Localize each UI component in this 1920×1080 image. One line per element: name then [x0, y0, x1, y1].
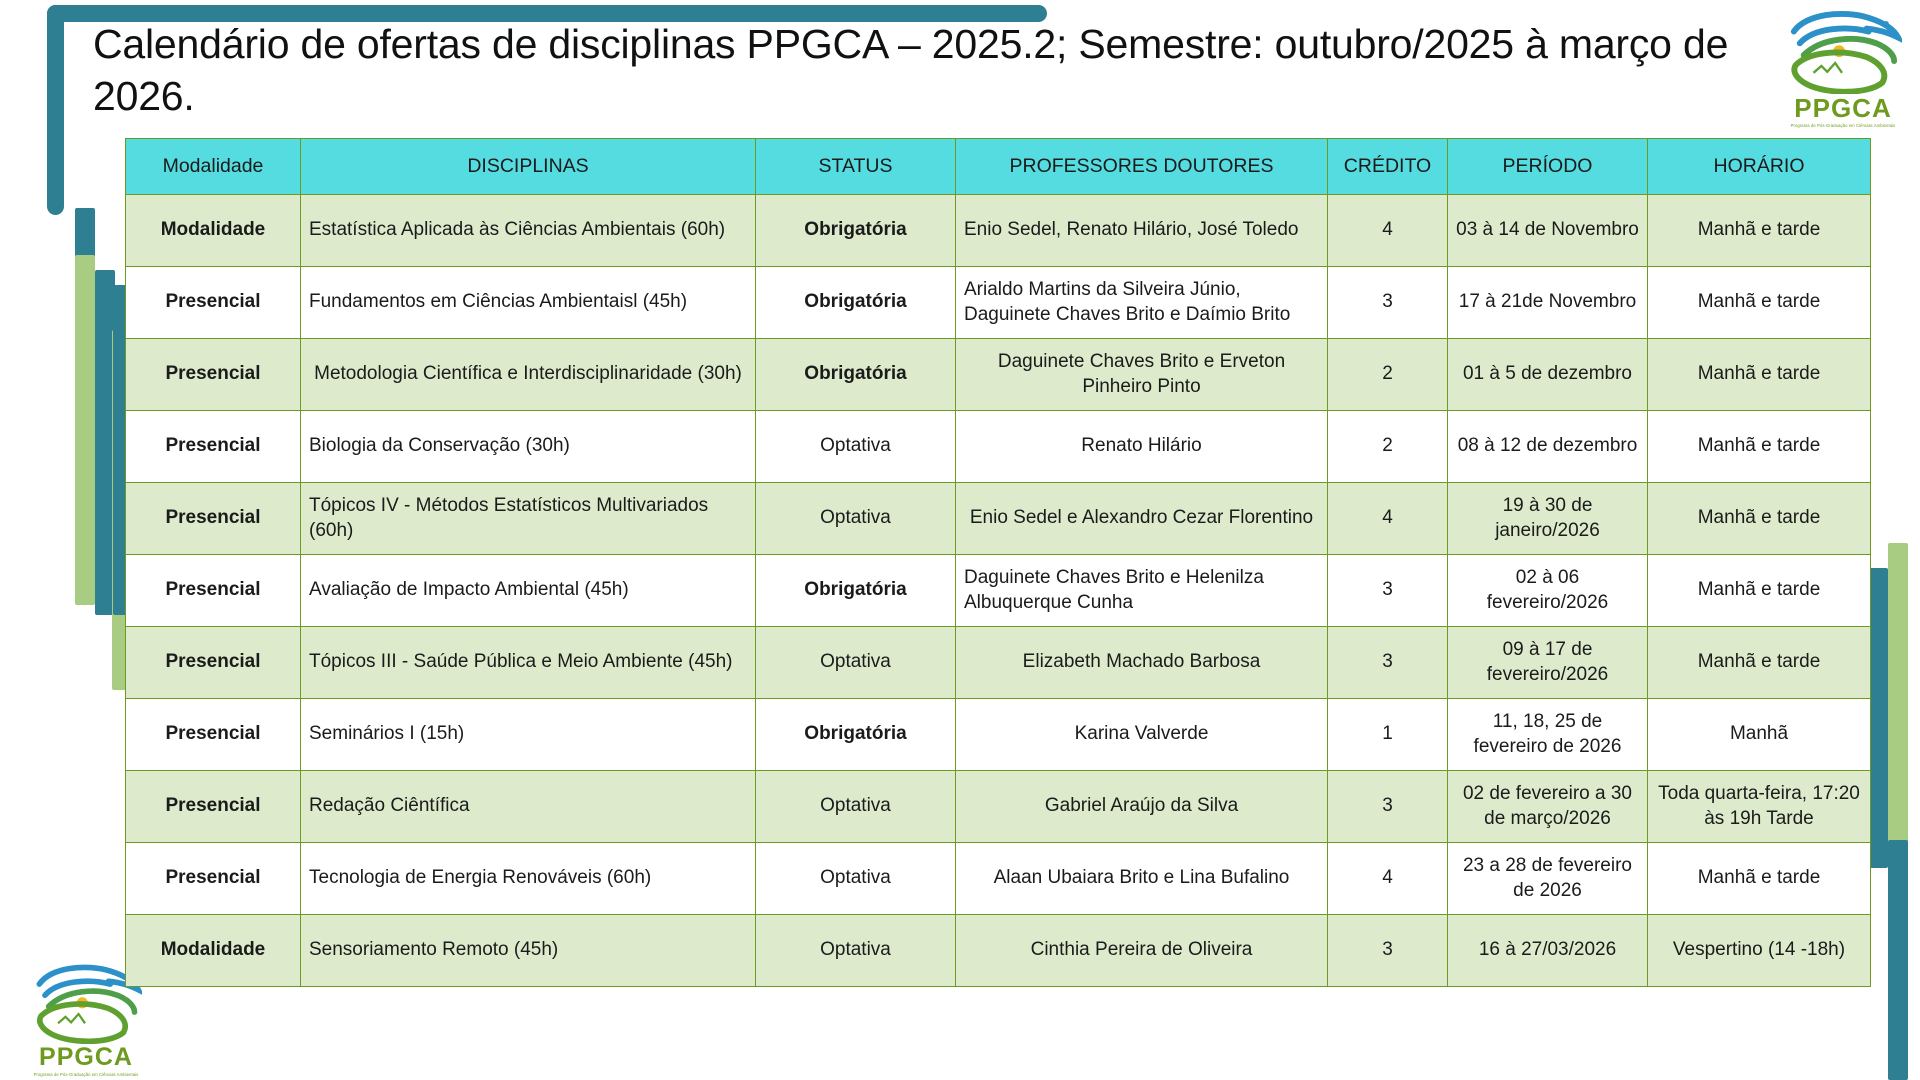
table-row: PresencialTecnologia de Energia Renováve… [126, 843, 1871, 915]
cell-professores: Renato Hilário [956, 411, 1328, 483]
cell-disciplina: Redação Ciêntífica [301, 771, 756, 843]
cell-professores: Daguinete Chaves Brito e Erveton Pinheir… [956, 339, 1328, 411]
decorative-bar-teal-right-1 [1868, 568, 1888, 868]
column-header-horario: HORÁRIO [1648, 139, 1871, 195]
cell-professores: Elizabeth Machado Barbosa [956, 627, 1328, 699]
cell-professores: Daguinete Chaves Brito e Helenilza Albuq… [956, 555, 1328, 627]
cell-disciplina: Tópicos IV - Métodos Estatísticos Multiv… [301, 483, 756, 555]
column-header-disciplinas: DISCIPLINAS [301, 139, 756, 195]
cell-status: Optativa [756, 915, 956, 987]
cell-credito: 3 [1328, 267, 1448, 339]
cell-status: Obrigatória [756, 339, 956, 411]
ppgca-wordmark: PPGCA [30, 1045, 142, 1070]
cell-modalidade: Presencial [126, 699, 301, 771]
cell-horario: Manhã e tarde [1648, 411, 1871, 483]
cell-modalidade: Presencial [126, 555, 301, 627]
table-row: PresencialRedação CiêntíficaOptativaGabr… [126, 771, 1871, 843]
cell-modalidade: Presencial [126, 483, 301, 555]
column-header-professores: PROFESSORES DOUTORES [956, 139, 1328, 195]
cell-disciplina: Estatística Aplicada às Ciências Ambient… [301, 195, 756, 267]
cell-modalidade: Presencial [126, 267, 301, 339]
cell-periodo: 02 à 06 fevereiro/2026 [1448, 555, 1648, 627]
cell-credito: 1 [1328, 699, 1448, 771]
table-row: ModalidadeSensoriamento Remoto (45h)Opta… [126, 915, 1871, 987]
table-row: ModalidadeEstatística Aplicada às Ciênci… [126, 195, 1871, 267]
cell-horario: Manhã e tarde [1648, 483, 1871, 555]
ppgca-logo-top: PPGCA Programa de Pós-Graduação em Ciênc… [1784, 4, 1902, 126]
cell-disciplina: Biologia da Conservação (30h) [301, 411, 756, 483]
table-row: PresencialBiologia da Conservação (30h)O… [126, 411, 1871, 483]
cell-periodo: 16 à 27/03/2026 [1448, 915, 1648, 987]
cell-professores: Enio Sedel, Renato Hilário, José Toledo [956, 195, 1328, 267]
cell-disciplina: Sensoriamento Remoto (45h) [301, 915, 756, 987]
cell-disciplina: Tópicos III - Saúde Pública e Meio Ambie… [301, 627, 756, 699]
cell-credito: 4 [1328, 195, 1448, 267]
cell-periodo: 01 à 5 de dezembro [1448, 339, 1648, 411]
cell-professores: Karina Valverde [956, 699, 1328, 771]
cell-professores: Arialdo Martins da Silveira Júnio, Dagui… [956, 267, 1328, 339]
cell-periodo: 02 de fevereiro a 30 de março/2026 [1448, 771, 1648, 843]
table-row: PresencialSeminários I (15h)ObrigatóriaK… [126, 699, 1871, 771]
cell-credito: 3 [1328, 915, 1448, 987]
column-header-modalidade: Modalidade [126, 139, 301, 195]
cell-status: Obrigatória [756, 699, 956, 771]
cell-modalidade: Presencial [126, 411, 301, 483]
cell-modalidade: Presencial [126, 627, 301, 699]
cell-periodo: 17 à 21de Novembro [1448, 267, 1648, 339]
cell-horario: Manhã e tarde [1648, 843, 1871, 915]
cell-periodo: 11, 18, 25 de fevereiro de 2026 [1448, 699, 1648, 771]
cell-modalidade: Presencial [126, 843, 301, 915]
cell-professores: Alaan Ubaiara Brito e Lina Bufalino [956, 843, 1328, 915]
cell-horario: Toda quarta-feira, 17:20 às 19h Tarde [1648, 771, 1871, 843]
cell-status: Optativa [756, 843, 956, 915]
cell-status: Obrigatória [756, 555, 956, 627]
cell-status: Optativa [756, 411, 956, 483]
ppgca-wordmark: PPGCA [1784, 95, 1902, 121]
course-schedule-table-wrapper: Modalidade DISCIPLINAS STATUS PROFESSORE… [125, 138, 1870, 987]
cell-horario: Manhã e tarde [1648, 555, 1871, 627]
table-head: Modalidade DISCIPLINAS STATUS PROFESSORE… [126, 139, 1871, 195]
cell-periodo: 19 à 30 de janeiro/2026 [1448, 483, 1648, 555]
column-header-status: STATUS [756, 139, 956, 195]
cell-professores: Cinthia Pereira de Oliveira [956, 915, 1328, 987]
cell-disciplina: Tecnologia de Energia Renováveis (60h) [301, 843, 756, 915]
table-header-row: Modalidade DISCIPLINAS STATUS PROFESSORE… [126, 139, 1871, 195]
cell-periodo: 08 à 12 de dezembro [1448, 411, 1648, 483]
decorative-bar-green-1 [75, 255, 95, 605]
table-body: ModalidadeEstatística Aplicada às Ciênci… [126, 195, 1871, 987]
cell-professores: Enio Sedel e Alexandro Cezar Florentino [956, 483, 1328, 555]
cell-periodo: 09 à 17 de fevereiro/2026 [1448, 627, 1648, 699]
cell-horario: Manhã e tarde [1648, 627, 1871, 699]
cell-status: Obrigatória [756, 267, 956, 339]
slide-canvas: Calendário de ofertas de disciplinas PPG… [0, 0, 1920, 1080]
cell-periodo: 23 a 28 de fevereiro de 2026 [1448, 843, 1648, 915]
cell-horario: Manhã e tarde [1648, 339, 1871, 411]
table-row: PresencialFundamentos em Ciências Ambien… [126, 267, 1871, 339]
column-header-credito: CRÉDITO [1328, 139, 1448, 195]
cell-credito: 4 [1328, 843, 1448, 915]
cell-credito: 3 [1328, 555, 1448, 627]
table-row: PresencialMetodologia Científica e Inter… [126, 339, 1871, 411]
cell-disciplina: Seminários I (15h) [301, 699, 756, 771]
cell-horario: Manhã e tarde [1648, 267, 1871, 339]
cell-status: Optativa [756, 627, 956, 699]
ppgca-subtitle: Programa de Pós-Graduação em Ciências Am… [1787, 124, 1899, 129]
cell-periodo: 03 à 14 de Novembro [1448, 195, 1648, 267]
cell-credito: 2 [1328, 411, 1448, 483]
cell-modalidade: Modalidade [126, 915, 301, 987]
cell-credito: 4 [1328, 483, 1448, 555]
table-row: PresencialTópicos IV - Métodos Estatísti… [126, 483, 1871, 555]
cell-disciplina: Avaliação de Impacto Ambiental (45h) [301, 555, 756, 627]
cell-disciplina: Fundamentos em Ciências Ambientaisl (45h… [301, 267, 756, 339]
cell-credito: 2 [1328, 339, 1448, 411]
cell-status: Obrigatória [756, 195, 956, 267]
table-row: PresencialAvaliação de Impacto Ambiental… [126, 555, 1871, 627]
cell-disciplina: Metodologia Científica e Interdisciplina… [301, 339, 756, 411]
cell-modalidade: Presencial [126, 339, 301, 411]
cell-professores: Gabriel Araújo da Silva [956, 771, 1328, 843]
cell-horario: Vespertino (14 -18h) [1648, 915, 1871, 987]
decorative-bar-left-main [47, 5, 64, 215]
decorative-bar-teal-right-2 [1888, 840, 1908, 1080]
cell-status: Optativa [756, 483, 956, 555]
column-header-periodo: PERÍODO [1448, 139, 1648, 195]
table-row: PresencialTópicos III - Saúde Pública e … [126, 627, 1871, 699]
cell-credito: 3 [1328, 771, 1448, 843]
cell-horario: Manhã e tarde [1648, 195, 1871, 267]
course-schedule-table: Modalidade DISCIPLINAS STATUS PROFESSORE… [125, 138, 1871, 987]
cell-horario: Manhã [1648, 699, 1871, 771]
cell-modalidade: Modalidade [126, 195, 301, 267]
cell-status: Optativa [756, 771, 956, 843]
ppgca-subtitle: Programa de Pós-Graduação em Ciências Am… [33, 1072, 139, 1077]
slide-title: Calendário de ofertas de disciplinas PPG… [93, 18, 1783, 122]
ppgca-fish-icon [1784, 4, 1902, 94]
cell-credito: 3 [1328, 627, 1448, 699]
cell-modalidade: Presencial [126, 771, 301, 843]
